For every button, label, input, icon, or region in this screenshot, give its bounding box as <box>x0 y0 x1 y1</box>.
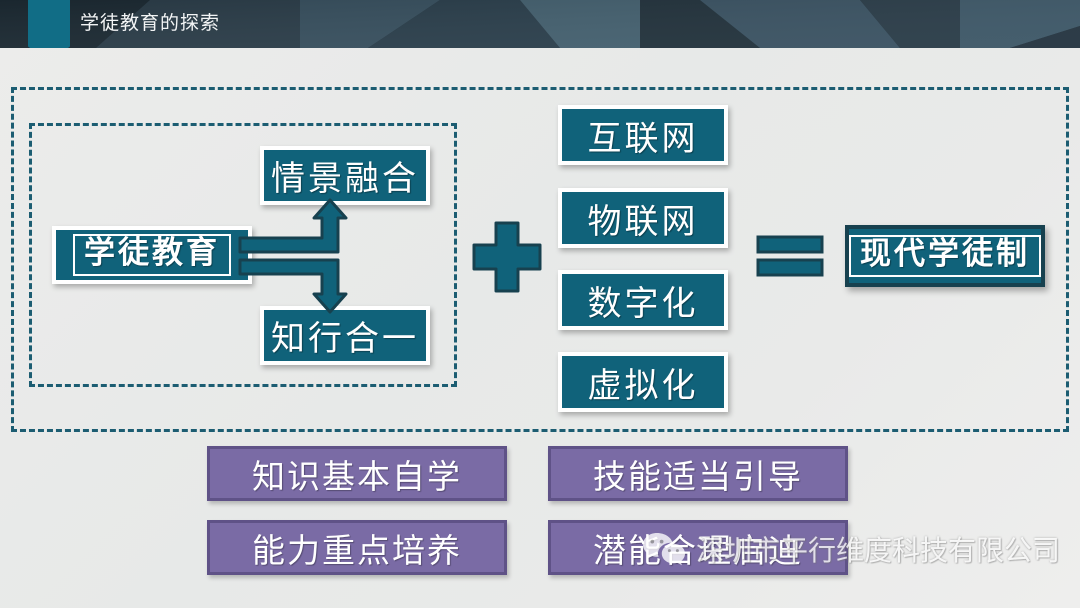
arrow-down-to-zhixing-icon <box>240 260 346 312</box>
principle-box-ability-cultivation[interactable]: 能力重点培养 <box>207 520 507 575</box>
result-box-label: 现代学徒制 <box>849 235 1041 277</box>
bidirectional-elbow-arrows <box>236 198 360 314</box>
header-ribbon-icon <box>28 0 70 48</box>
concept-box-scene-fusion[interactable]: 情景融合 <box>260 146 430 205</box>
technology-box-digitalization[interactable]: 数字化 <box>558 270 728 330</box>
source-box-label: 学徒教育 <box>73 234 231 276</box>
arrow-up-to-qingjing-icon <box>240 200 346 252</box>
technology-box-iot[interactable]: 物联网 <box>558 188 728 248</box>
result-box-modern-apprenticeship[interactable]: 现代学徒制 <box>845 225 1045 287</box>
technology-box-virtualization[interactable]: 虚拟化 <box>558 352 728 412</box>
concept-box-knowledge-action-unity[interactable]: 知行合一 <box>260 306 430 365</box>
principle-box-skill-guidance[interactable]: 技能适当引导 <box>548 446 848 501</box>
principle-box-potential-inspiration[interactable]: 潜能合理启迪 <box>548 520 848 575</box>
equals-operator-icon <box>755 232 825 280</box>
source-box-apprentice-education[interactable]: 学徒教育 <box>52 226 252 284</box>
slide-header: 学徒教育的探索 <box>0 0 1080 48</box>
technology-box-internet[interactable]: 互联网 <box>558 105 728 165</box>
plus-operator-icon <box>470 217 544 297</box>
principle-box-self-study[interactable]: 知识基本自学 <box>207 446 507 501</box>
slide-canvas: 学徒教育的探索 学徒教育 情景融合 知行合一 + 互联网 物联网 数字化 虚拟化… <box>0 0 1080 608</box>
page-title: 学徒教育的探索 <box>80 0 220 48</box>
